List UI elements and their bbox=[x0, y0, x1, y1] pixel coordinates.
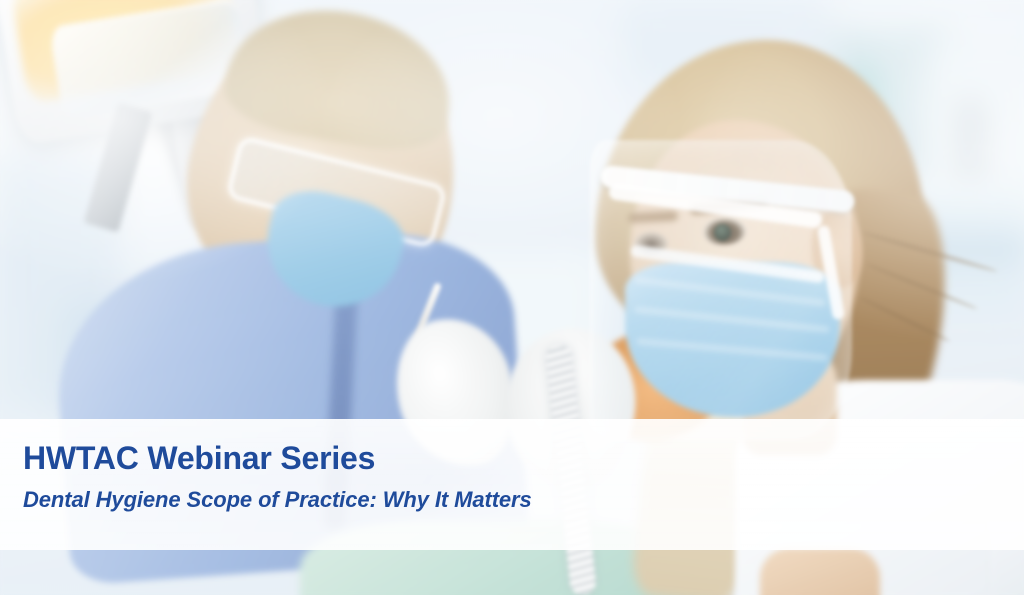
webinar-title-slide: HWTAC Webinar Series Dental Hygiene Scop… bbox=[0, 0, 1024, 595]
hygienist-arm bbox=[760, 548, 880, 595]
page-subtitle: Dental Hygiene Scope of Practice: Why It… bbox=[23, 487, 532, 513]
page-title: HWTAC Webinar Series bbox=[23, 442, 532, 476]
banner-text-block: HWTAC Webinar Series Dental Hygiene Scop… bbox=[23, 442, 532, 513]
background-instrument-blur bbox=[962, 100, 980, 180]
title-banner: HWTAC Webinar Series Dental Hygiene Scop… bbox=[0, 419, 1024, 550]
